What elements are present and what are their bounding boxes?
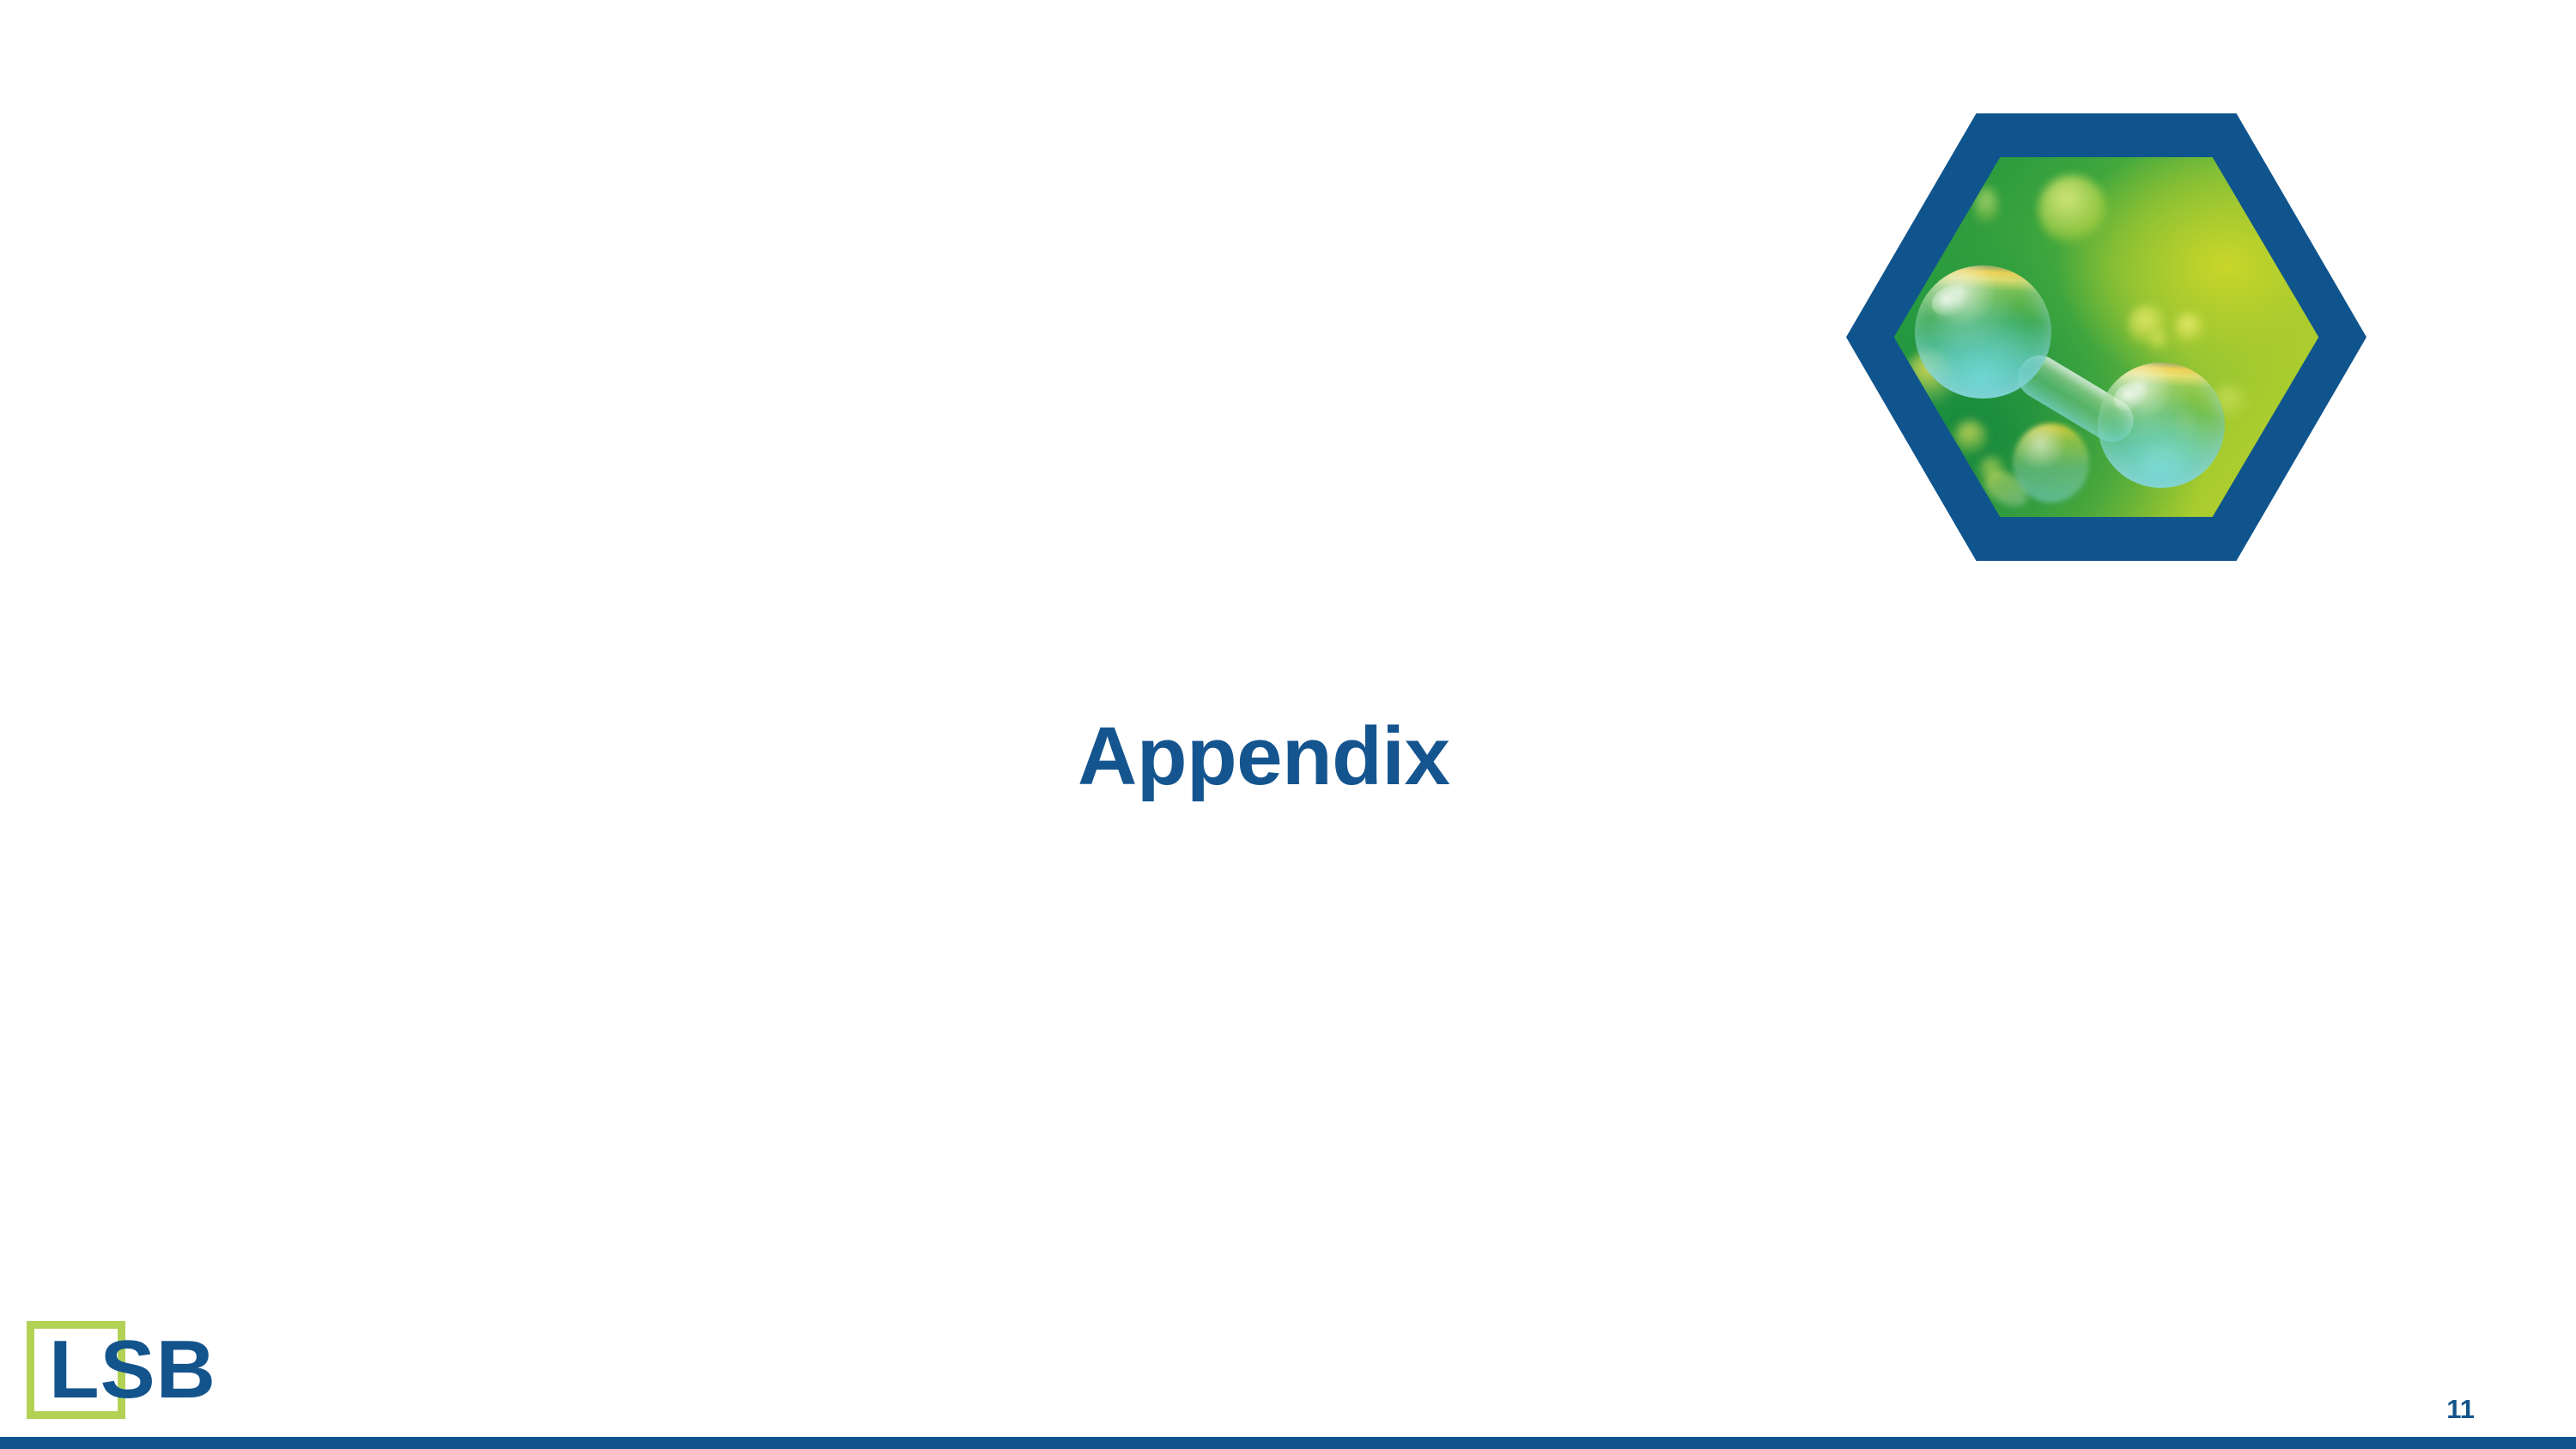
- molecule-sphere-icon: [1915, 265, 2050, 399]
- bokeh-droplet-icon: [2174, 312, 2204, 344]
- page-number: 11: [2446, 1394, 2475, 1425]
- logo-wordmark: LSB: [49, 1329, 216, 1411]
- molecule-hexagon-graphic: [1846, 113, 2366, 561]
- bokeh-droplet-icon: [2148, 330, 2170, 351]
- lsb-logo: LSB: [0, 1314, 258, 1426]
- molecule-sphere-icon: [2098, 362, 2225, 489]
- page-title: Appendix: [1078, 714, 1449, 801]
- footer-rule: [0, 1437, 2576, 1449]
- bokeh-droplet-icon: [2038, 175, 2106, 244]
- small-droplet-icon: [2013, 423, 2089, 502]
- slide-canvas: Appendix LSB 11: [0, 0, 2576, 1449]
- bokeh-droplet-icon: [2128, 305, 2166, 344]
